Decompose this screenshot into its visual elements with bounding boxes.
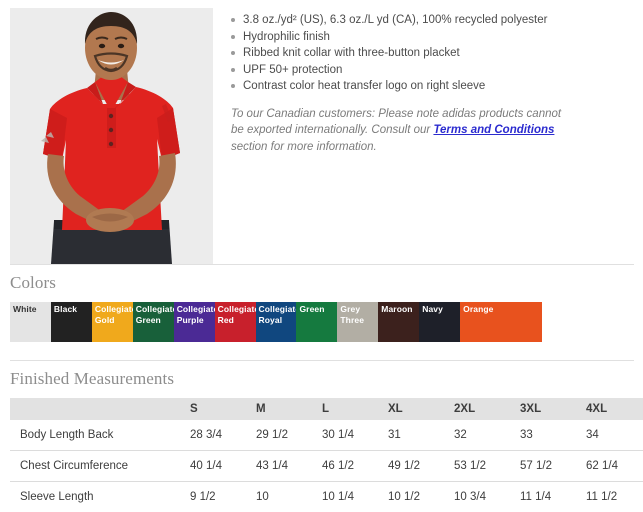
- swatch-label: Maroon: [381, 304, 418, 315]
- color-swatch-row: White Black Collegiate Gold Collegiate G…: [10, 302, 542, 342]
- cell-l: 10 1/4: [322, 482, 388, 512]
- swatch-label: Grey Three: [340, 304, 377, 326]
- column-header-4xl: 4XL: [586, 398, 643, 420]
- bullet-icon: [231, 84, 235, 88]
- list-item: Contrast color heat transfer logo on rig…: [231, 78, 643, 95]
- color-swatch-grey-three[interactable]: Grey Three: [337, 302, 378, 342]
- cell-m: 29 1/2: [256, 420, 322, 451]
- feature-list: 3.8 oz./yd² (US), 6.3 oz./L yd (CA), 100…: [231, 12, 643, 95]
- cell-3xl: 11 1/4: [520, 482, 586, 512]
- row-label: Body Length Back: [10, 420, 190, 451]
- product-overview: 3.8 oz./yd² (US), 6.3 oz./L yd (CA), 100…: [0, 0, 643, 264]
- row-label: Sleeve Length: [10, 482, 190, 512]
- column-header-l: L: [322, 398, 388, 420]
- bullet-icon: [231, 51, 235, 55]
- cell-xl: 31: [388, 420, 454, 451]
- bullet-icon: [231, 68, 235, 72]
- measurements-table-wrapper: S M L XL 2XL 3XL 4XL Body Length Back 28…: [10, 398, 634, 512]
- note-text-after-link: section for more information.: [231, 141, 377, 153]
- feature-text: Hydrophilic finish: [243, 31, 330, 43]
- cell-3xl: 57 1/2: [520, 451, 586, 482]
- swatch-label: Navy: [422, 304, 459, 315]
- feature-text: Contrast color heat transfer logo on rig…: [243, 80, 485, 92]
- cell-s: 28 3/4: [190, 420, 256, 451]
- cell-m: 43 1/4: [256, 451, 322, 482]
- color-swatch-maroon[interactable]: Maroon: [378, 302, 419, 342]
- measurements-table: S M L XL 2XL 3XL 4XL Body Length Back 28…: [10, 398, 643, 512]
- swatch-label: Collegiate Red: [218, 304, 255, 326]
- swatch-label: Collegiate Royal: [259, 304, 296, 326]
- cell-4xl: 62 1/4: [586, 451, 643, 482]
- color-swatch-collegiate-purple[interactable]: Collegiate Purple: [174, 302, 215, 342]
- list-item: Ribbed knit collar with three-button pla…: [231, 45, 643, 62]
- color-swatch-orange[interactable]: Orange: [460, 302, 501, 342]
- table-body: Body Length Back 28 3/4 29 1/2 30 1/4 31…: [10, 420, 643, 512]
- list-item: Hydrophilic finish: [231, 29, 643, 46]
- swatch-label: White: [13, 304, 50, 315]
- cell-l: 30 1/4: [322, 420, 388, 451]
- list-item: 3.8 oz./yd² (US), 6.3 oz./L yd (CA), 100…: [231, 12, 643, 29]
- cell-3xl: 33: [520, 420, 586, 451]
- color-swatch-collegiate-gold[interactable]: Collegiate Gold: [92, 302, 133, 342]
- product-features: 3.8 oz./yd² (US), 6.3 oz./L yd (CA), 100…: [213, 8, 643, 167]
- cell-s: 9 1/2: [190, 482, 256, 512]
- cell-xl: 49 1/2: [388, 451, 454, 482]
- cell-s: 40 1/4: [190, 451, 256, 482]
- cell-l: 46 1/2: [322, 451, 388, 482]
- bullet-icon: [231, 18, 235, 22]
- color-swatch-collegiate-green[interactable]: Collegiate Green: [133, 302, 174, 342]
- colors-heading: Colors: [0, 265, 643, 302]
- table-row: Sleeve Length 9 1/2 10 10 1/4 10 1/2 10 …: [10, 482, 643, 512]
- color-swatch-collegiate-royal[interactable]: Collegiate Royal: [256, 302, 297, 342]
- column-header-measure: [10, 398, 190, 420]
- cell-2xl: 10 3/4: [454, 482, 520, 512]
- table-header-row: S M L XL 2XL 3XL 4XL: [10, 398, 643, 420]
- cell-4xl: 34: [586, 420, 643, 451]
- measurements-heading: Finished Measurements: [0, 361, 643, 398]
- column-header-s: S: [190, 398, 256, 420]
- color-swatch-navy[interactable]: Navy: [419, 302, 460, 342]
- color-swatch-green[interactable]: Green: [296, 302, 337, 342]
- swatch-label: Orange: [463, 304, 500, 315]
- feature-text: Ribbed knit collar with three-button pla…: [243, 47, 460, 59]
- swatch-label: Green: [299, 304, 336, 315]
- row-label: Chest Circumference: [10, 451, 190, 482]
- bullet-icon: [231, 35, 235, 39]
- swatch-label: Collegiate Gold: [95, 304, 132, 326]
- color-swatch-collegiate-red[interactable]: Collegiate Red: [215, 302, 256, 342]
- column-header-xl: XL: [388, 398, 454, 420]
- color-swatch-orange-continued[interactable]: [501, 302, 542, 342]
- color-swatch-white[interactable]: White: [10, 302, 51, 342]
- list-item: UPF 50+ protection: [231, 62, 643, 79]
- color-swatch-black[interactable]: Black: [51, 302, 92, 342]
- table-row: Body Length Back 28 3/4 29 1/2 30 1/4 31…: [10, 420, 643, 451]
- swatch-label: Collegiate Green: [136, 304, 173, 326]
- model-illustration: [10, 8, 213, 264]
- feature-text: UPF 50+ protection: [243, 64, 342, 76]
- column-header-3xl: 3XL: [520, 398, 586, 420]
- table-head: S M L XL 2XL 3XL 4XL: [10, 398, 643, 420]
- cell-xl: 10 1/2: [388, 482, 454, 512]
- swatch-label: Black: [54, 304, 91, 315]
- cell-m: 10: [256, 482, 322, 512]
- feature-text: 3.8 oz./yd² (US), 6.3 oz./L yd (CA), 100…: [243, 14, 547, 26]
- swatch-label: Collegiate Purple: [177, 304, 214, 326]
- table-row: Chest Circumference 40 1/4 43 1/4 46 1/2…: [10, 451, 643, 482]
- cell-2xl: 32: [454, 420, 520, 451]
- column-header-m: M: [256, 398, 322, 420]
- cell-4xl: 11 1/2: [586, 482, 643, 512]
- cell-2xl: 53 1/2: [454, 451, 520, 482]
- terms-and-conditions-link[interactable]: Terms and Conditions: [433, 124, 554, 136]
- column-header-2xl: 2XL: [454, 398, 520, 420]
- canadian-customers-note: To our Canadian customers: Please note a…: [231, 106, 571, 156]
- product-image[interactable]: [10, 8, 213, 264]
